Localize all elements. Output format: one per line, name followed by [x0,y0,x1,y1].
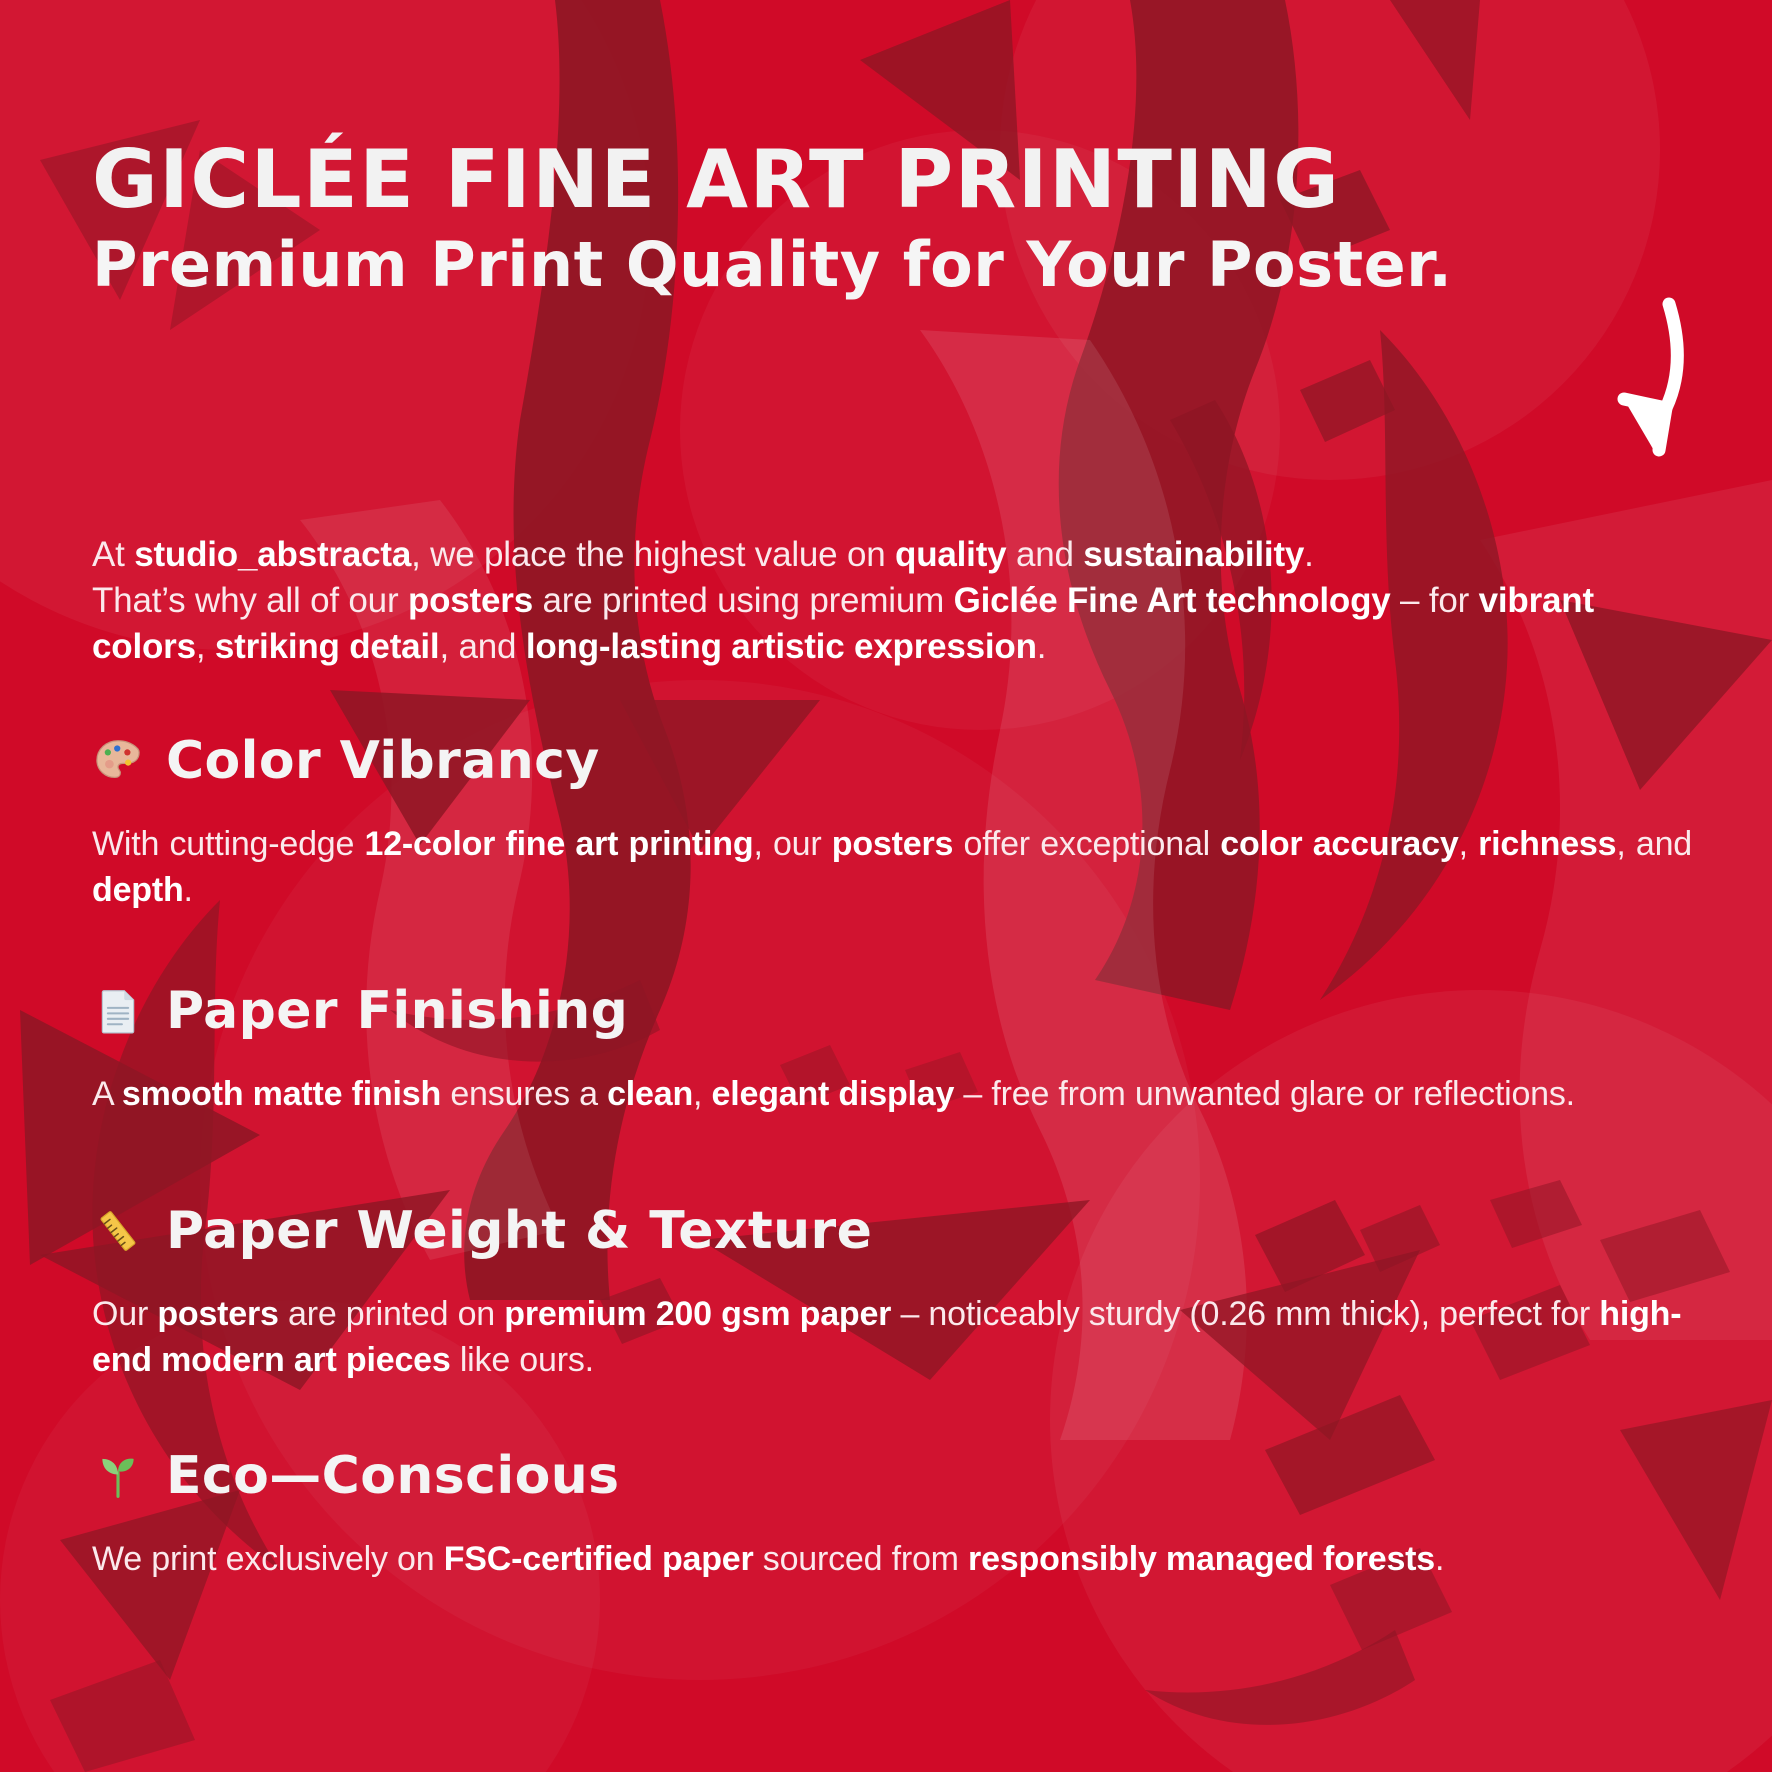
section-header: Color Vibrancy [92,735,1692,787]
poster-canvas: GICLÉE FINE ART PRINTING Premium Print Q… [0,0,1772,1772]
straight-ruler-icon [92,1205,144,1257]
section-body: We print exclusively on FSC-certified pa… [92,1536,1692,1582]
section-paper-finishing: Paper Finishing A smooth matte finish en… [92,985,1692,1151]
section-body: With cutting-edge 12-color fine art prin… [92,821,1692,913]
page-document-icon [92,985,144,1037]
section-header: Paper Weight & Texture [92,1205,1692,1257]
page-title: GICLÉE FINE ART PRINTING [92,142,1692,218]
section-eco-conscious: Eco—Conscious We print exclusively on FS… [92,1450,1692,1616]
section-color-vibrancy: Color Vibrancy With cutting-edge 12-colo… [92,735,1692,947]
header-block: GICLÉE FINE ART PRINTING Premium Print Q… [92,142,1692,299]
section-title: Paper Weight & Texture [166,1205,872,1257]
section-header: Eco—Conscious [92,1450,1692,1502]
curved-down-left-arrow-icon [1584,282,1772,478]
artist-palette-icon [92,735,144,787]
page-subtitle: Premium Print Quality for Your Poster. [92,232,1692,299]
seedling-icon [92,1450,144,1502]
section-paper-weight-texture: Paper Weight & Texture Our posters are p… [92,1205,1692,1417]
section-body: A smooth matte finish ensures a clean, e… [92,1071,1692,1117]
section-body: Our posters are printed on premium 200 g… [92,1291,1692,1383]
poster-content: GICLÉE FINE ART PRINTING Premium Print Q… [0,0,1772,1772]
intro-paragraph: At studio_abstracta, we place the highes… [92,532,1692,671]
section-title: Color Vibrancy [166,735,600,787]
section-header: Paper Finishing [92,985,1692,1037]
section-title: Eco—Conscious [166,1450,619,1502]
section-title: Paper Finishing [166,985,628,1037]
